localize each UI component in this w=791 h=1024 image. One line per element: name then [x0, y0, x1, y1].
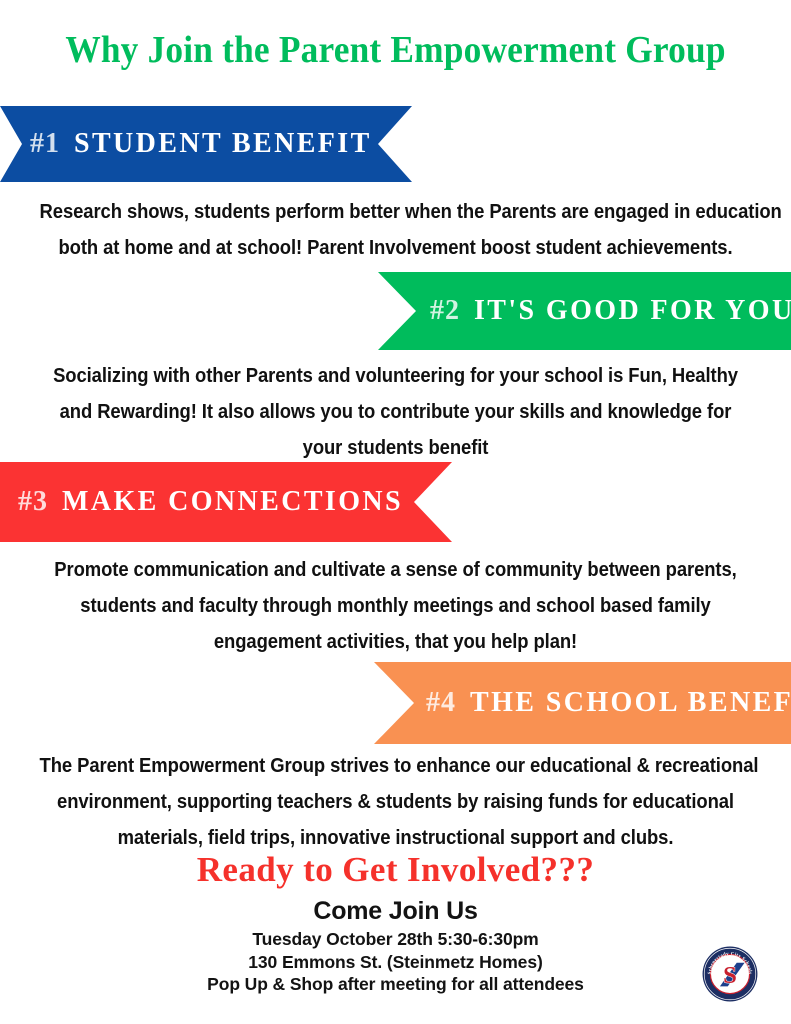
section-body-the-school-benefits: The Parent Empowerment Group strives to …	[40, 748, 752, 856]
section-body-its-good-for-you: Socializing with other Parents and volun…	[40, 358, 752, 466]
banner-heading-2: IT'S GOOD FOR YOU!!	[474, 295, 791, 326]
banner-label-3: #3MAKE CONNECTIONS	[18, 488, 403, 516]
cta-subheadline: Come Join Us	[0, 896, 791, 926]
event-datetime: Tuesday October 28th 5:30-6:30pm	[0, 928, 791, 951]
section-banner-make-connections: #3MAKE CONNECTIONS	[0, 462, 452, 542]
flyer-page: Why Join the Parent Empowerment Group #1…	[0, 0, 791, 1024]
body-line: your students benefit	[40, 430, 752, 466]
section-banner-its-good-for-you: #2IT'S GOOD FOR YOU!!	[378, 272, 791, 350]
banner-label-2: #2IT'S GOOD FOR YOU!!	[430, 297, 791, 325]
banner-number-1: #1	[30, 128, 60, 159]
body-line: and Rewarding! It also allows you to con…	[40, 394, 752, 430]
banner-number-3: #3	[18, 486, 48, 517]
banner-label-4: #4THE SCHOOL BENEFITS	[426, 689, 791, 717]
body-line: students and faculty through monthly mee…	[40, 588, 752, 624]
event-location: 130 Emmons St. (Steinmetz Homes)	[0, 951, 791, 974]
svg-text:S: S	[723, 962, 737, 989]
event-details: Tuesday October 28th 5:30-6:30pm 130 Emm…	[0, 928, 791, 996]
banner-number-4: #4	[426, 687, 456, 718]
section-banner-the-school-benefits: #4THE SCHOOL BENEFITS	[374, 662, 791, 744]
body-line: environment, supporting teachers & stude…	[40, 784, 752, 820]
section-banner-student-benefit: #1STUDENT BENEFIT	[0, 106, 412, 182]
event-note: Pop Up & Shop after meeting for all atte…	[0, 973, 791, 996]
banner-heading-4: THE SCHOOL BENEFITS	[470, 687, 791, 718]
body-line: both at home and at school! Parent Invol…	[40, 230, 752, 266]
banner-number-2: #2	[430, 295, 460, 326]
school-logo: Schenectady City Schools Est. 1854 S	[702, 946, 758, 1002]
body-line: The Parent Empowerment Group strives to …	[40, 748, 752, 784]
body-line: Socializing with other Parents and volun…	[40, 358, 752, 394]
body-line: engagement activities, that you help pla…	[40, 624, 752, 660]
section-body-student-benefit: Research shows, students perform better …	[40, 194, 752, 266]
body-line: Promote communication and cultivate a se…	[40, 552, 752, 588]
banner-label-1: #1STUDENT BENEFIT	[30, 130, 372, 158]
cta-headline: Ready to Get Involved???	[0, 849, 791, 891]
page-title: Why Join the Parent Empowerment Group	[28, 26, 764, 74]
banner-heading-1: STUDENT BENEFIT	[74, 128, 372, 159]
body-line: Research shows, students perform better …	[40, 194, 752, 230]
section-body-make-connections: Promote communication and cultivate a se…	[40, 552, 752, 660]
banner-heading-3: MAKE CONNECTIONS	[62, 486, 403, 517]
